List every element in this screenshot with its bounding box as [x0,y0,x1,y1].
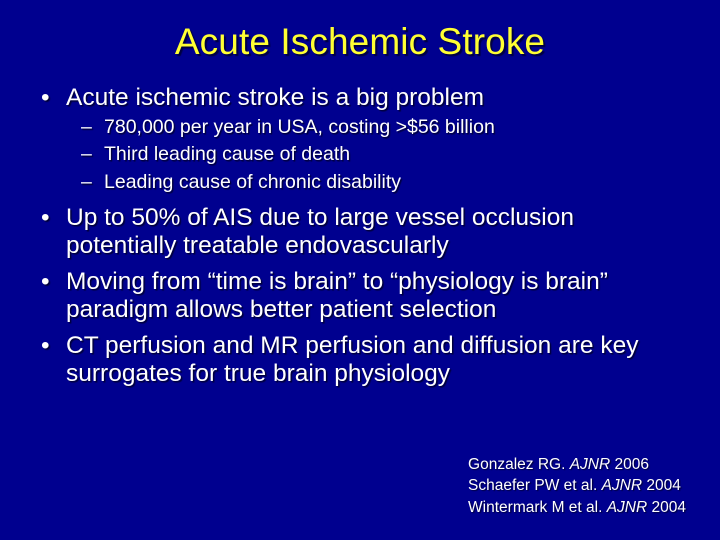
bullet-group-4: • CT perfusion and MR perfusion and diff… [34,332,689,389]
slide: Acute Ischemic Stroke • Acute ischemic s… [0,0,720,540]
bullet-text: CT perfusion and MR perfusion and diffus… [66,332,689,389]
sub-bullet-list: – 780,000 per year in USA, costing >$56 … [34,114,689,197]
citation-authors: Schaefer PW et al. [468,477,597,494]
citation-year: 2004 [652,499,686,516]
bullet-marker-icon: • [41,268,61,297]
bullet-marker-icon: • [41,204,61,233]
bullet-marker-icon: • [41,332,61,361]
sub-bullet-item: – Leading cause of chronic disability [34,169,689,197]
bullet-group-3: • Moving from “time is brain” to “physio… [34,268,689,325]
citation-authors: Gonzalez RG. [468,456,565,473]
citation-line: Schaefer PW et al. AJNR 2004 [468,475,686,496]
dash-marker-icon: – [81,141,103,169]
sub-bullet-text: Third leading cause of death [104,141,689,169]
sub-bullet-item: – Third leading cause of death [34,141,689,169]
slide-title: Acute Ischemic Stroke [0,22,720,62]
citation-journal: AJNR [602,477,642,494]
citation-line: Wintermark M et al. AJNR 2004 [468,497,686,518]
sub-bullet-item: – 780,000 per year in USA, costing >$56 … [34,114,689,142]
bullet-group-1: • Acute ischemic stroke is a big problem… [34,84,689,197]
dash-marker-icon: – [81,114,103,142]
citation-block: Gonzalez RG. AJNR 2006 Schaefer PW et al… [468,454,686,518]
citation-year: 2004 [646,477,680,494]
bullet-group-2: • Up to 50% of AIS due to large vessel o… [34,204,689,261]
bullet-item: • Acute ischemic stroke is a big problem [34,84,689,113]
sub-bullet-text: Leading cause of chronic disability [104,169,689,197]
bullet-item: • Up to 50% of AIS due to large vessel o… [34,204,689,261]
bullet-item: • CT perfusion and MR perfusion and diff… [34,332,689,389]
citation-year: 2006 [615,456,649,473]
dash-marker-icon: – [81,169,103,197]
bullet-marker-icon: • [41,84,61,113]
citation-journal: AJNR [607,499,647,516]
bullet-text: Moving from “time is brain” to “physiolo… [66,268,689,325]
citation-journal: AJNR [570,456,610,473]
bullet-text: Up to 50% of AIS due to large vessel occ… [66,204,689,261]
slide-body-content: • Acute ischemic stroke is a big problem… [34,84,689,396]
citation-line: Gonzalez RG. AJNR 2006 [468,454,686,475]
sub-bullet-text: 780,000 per year in USA, costing >$56 bi… [104,114,689,142]
bullet-text: Acute ischemic stroke is a big problem [66,84,689,113]
citation-authors: Wintermark M et al. [468,499,602,516]
bullet-item: • Moving from “time is brain” to “physio… [34,268,689,325]
